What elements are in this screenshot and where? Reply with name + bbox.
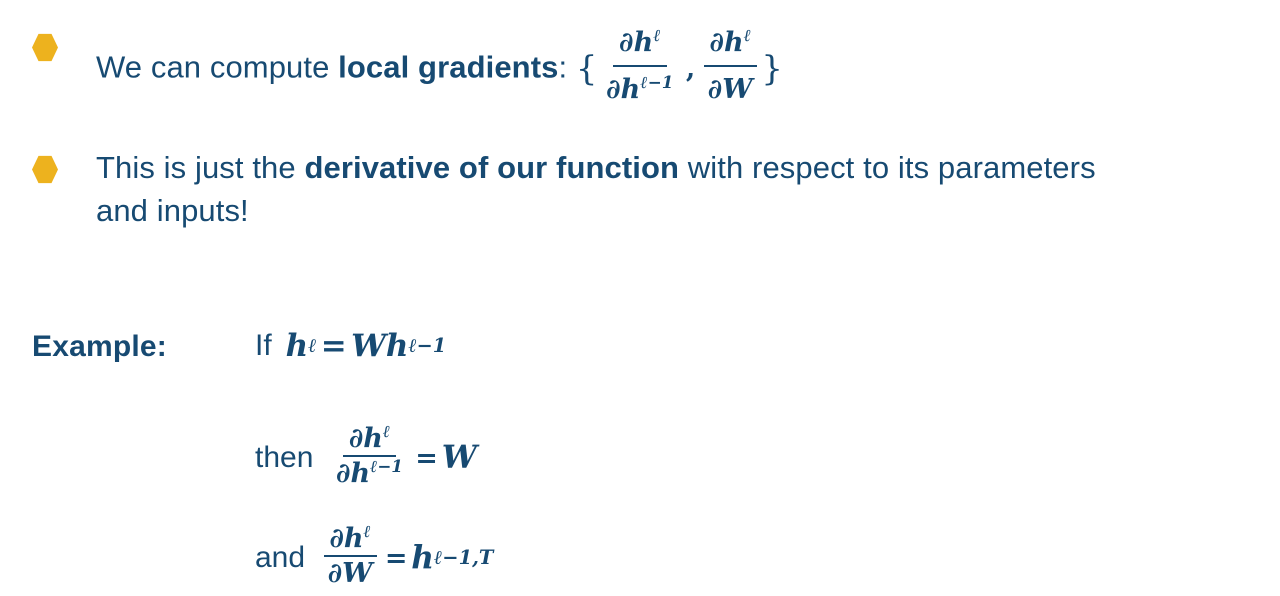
keyword-then: then: [255, 441, 313, 475]
numerator-sup: ℓ: [383, 421, 390, 441]
fraction-denominator: ∂W: [322, 557, 379, 589]
keyword-and: and: [255, 541, 305, 575]
fraction-denominator: ∂hℓ−1: [330, 457, 409, 489]
numerator-sup: ℓ: [364, 521, 371, 541]
example-block: Example: If hℓ = Whℓ−1 then ∂hℓ ∂hℓ−1 = …: [0, 0, 1280, 596]
equation-dh-dW-equals-hT: ∂hℓ ∂W = hℓ−1,T: [319, 525, 493, 591]
numerator-base: ∂h: [349, 423, 383, 454]
keyword-if: If: [255, 329, 272, 363]
example-line-and: and ∂hℓ ∂W = hℓ−1,T: [255, 525, 493, 591]
example-line-if: If hℓ = Whℓ−1: [255, 328, 446, 364]
fraction-dh-dW: ∂hℓ ∂W: [322, 523, 379, 589]
equals-operator: =: [316, 328, 351, 364]
rhs-base: W: [442, 440, 477, 476]
fraction-dh-dh: ∂hℓ ∂hℓ−1: [330, 423, 409, 489]
rhs-base: h: [411, 540, 434, 576]
denominator-sup: ℓ−1: [370, 456, 403, 476]
rhs-base: Wh: [351, 328, 408, 364]
fraction-numerator: ∂hℓ: [343, 423, 396, 457]
numerator-base: ∂h: [329, 523, 363, 554]
equals-operator: =: [412, 443, 442, 474]
example-line-then: then ∂hℓ ∂hℓ−1 = W: [255, 425, 477, 491]
equals-operator: =: [381, 543, 411, 574]
equation-dh-dh-equals-W: ∂hℓ ∂hℓ−1 = W: [327, 425, 476, 491]
denominator-base: ∂W: [328, 558, 373, 589]
denominator-base: ∂h: [336, 458, 370, 489]
example-label: Example:: [32, 330, 167, 364]
fraction-numerator: ∂hℓ: [324, 523, 377, 557]
equation-h-equals-Wh: hℓ = Whℓ−1: [286, 328, 446, 364]
lhs-base: h: [286, 328, 309, 364]
